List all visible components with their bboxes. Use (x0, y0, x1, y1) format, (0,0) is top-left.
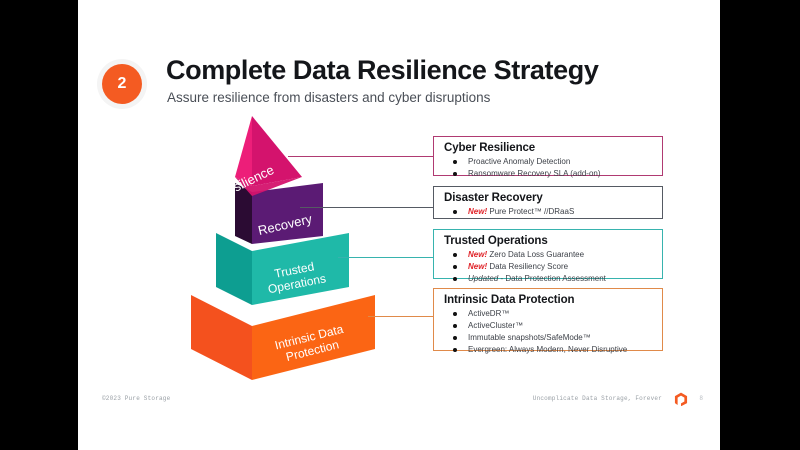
page-subtitle: Assure resilience from disasters and cyb… (167, 90, 490, 105)
pure-storage-logo-icon (674, 392, 688, 406)
list-item: New! Data Resiliency Score (444, 261, 654, 273)
connector-trusted (338, 257, 433, 258)
list-item: New! Zero Data Loss Guarantee (444, 249, 654, 261)
list-item: ActiveDR™ (444, 308, 654, 320)
list-item: ActiveCluster™ (444, 320, 654, 332)
slide-canvas: 2 Complete Data Resilience Strategy Assu… (78, 0, 720, 450)
footer-copyright: ©2023 Pure Storage (102, 395, 170, 402)
callout-cyber-resilience[interactable]: Cyber Resilience Proactive Anomaly Detec… (433, 136, 663, 176)
list-item: Ransomware Recovery SLA (add-on) (444, 168, 654, 180)
screen: 2 Complete Data Resilience Strategy Assu… (0, 0, 800, 450)
footer-tagline: Uncomplicate Data Storage, Forever (533, 395, 662, 402)
pyramid-diagram: Resilience Recovery Trusted Operations I… (92, 108, 412, 383)
callout-intrinsic-data-protection[interactable]: Intrinsic Data Protection ActiveDR™ Acti… (433, 288, 663, 351)
page-title: Complete Data Resilience Strategy (166, 55, 598, 86)
callout-title: Disaster Recovery (444, 192, 654, 204)
letterbox-right (720, 0, 800, 450)
callout-disaster-recovery[interactable]: Disaster Recovery New! Pure Protect™ //D… (433, 186, 663, 219)
list-item: Proactive Anomaly Detection (444, 156, 654, 168)
callout-title: Trusted Operations (444, 235, 654, 247)
list-item: Evergreen: Always Modern, Never Disrupti… (444, 344, 654, 356)
slide-number-badge: 2 (102, 64, 142, 104)
callout-list: New! Zero Data Loss Guarantee New! Data … (444, 249, 654, 285)
callout-list: New! Pure Protect™ //DRaaS (444, 206, 654, 218)
letterbox-left (0, 0, 78, 450)
connector-intrinsic (368, 316, 433, 317)
list-item: Updated - Data Protection Assessment (444, 273, 654, 285)
callout-list: Proactive Anomaly Detection Ransomware R… (444, 156, 654, 180)
callout-title: Intrinsic Data Protection (444, 294, 654, 306)
connector-cyber (288, 156, 433, 157)
list-item: Immutable snapshots/SafeMode™ (444, 332, 654, 344)
callout-trusted-operations[interactable]: Trusted Operations New! Zero Data Loss G… (433, 229, 663, 279)
page-number: 8 (699, 395, 703, 402)
callout-title: Cyber Resilience (444, 142, 654, 154)
callout-list: ActiveDR™ ActiveCluster™ Immutable snaps… (444, 308, 654, 357)
list-item: New! Pure Protect™ //DRaaS (444, 206, 654, 218)
connector-dr (300, 207, 433, 208)
